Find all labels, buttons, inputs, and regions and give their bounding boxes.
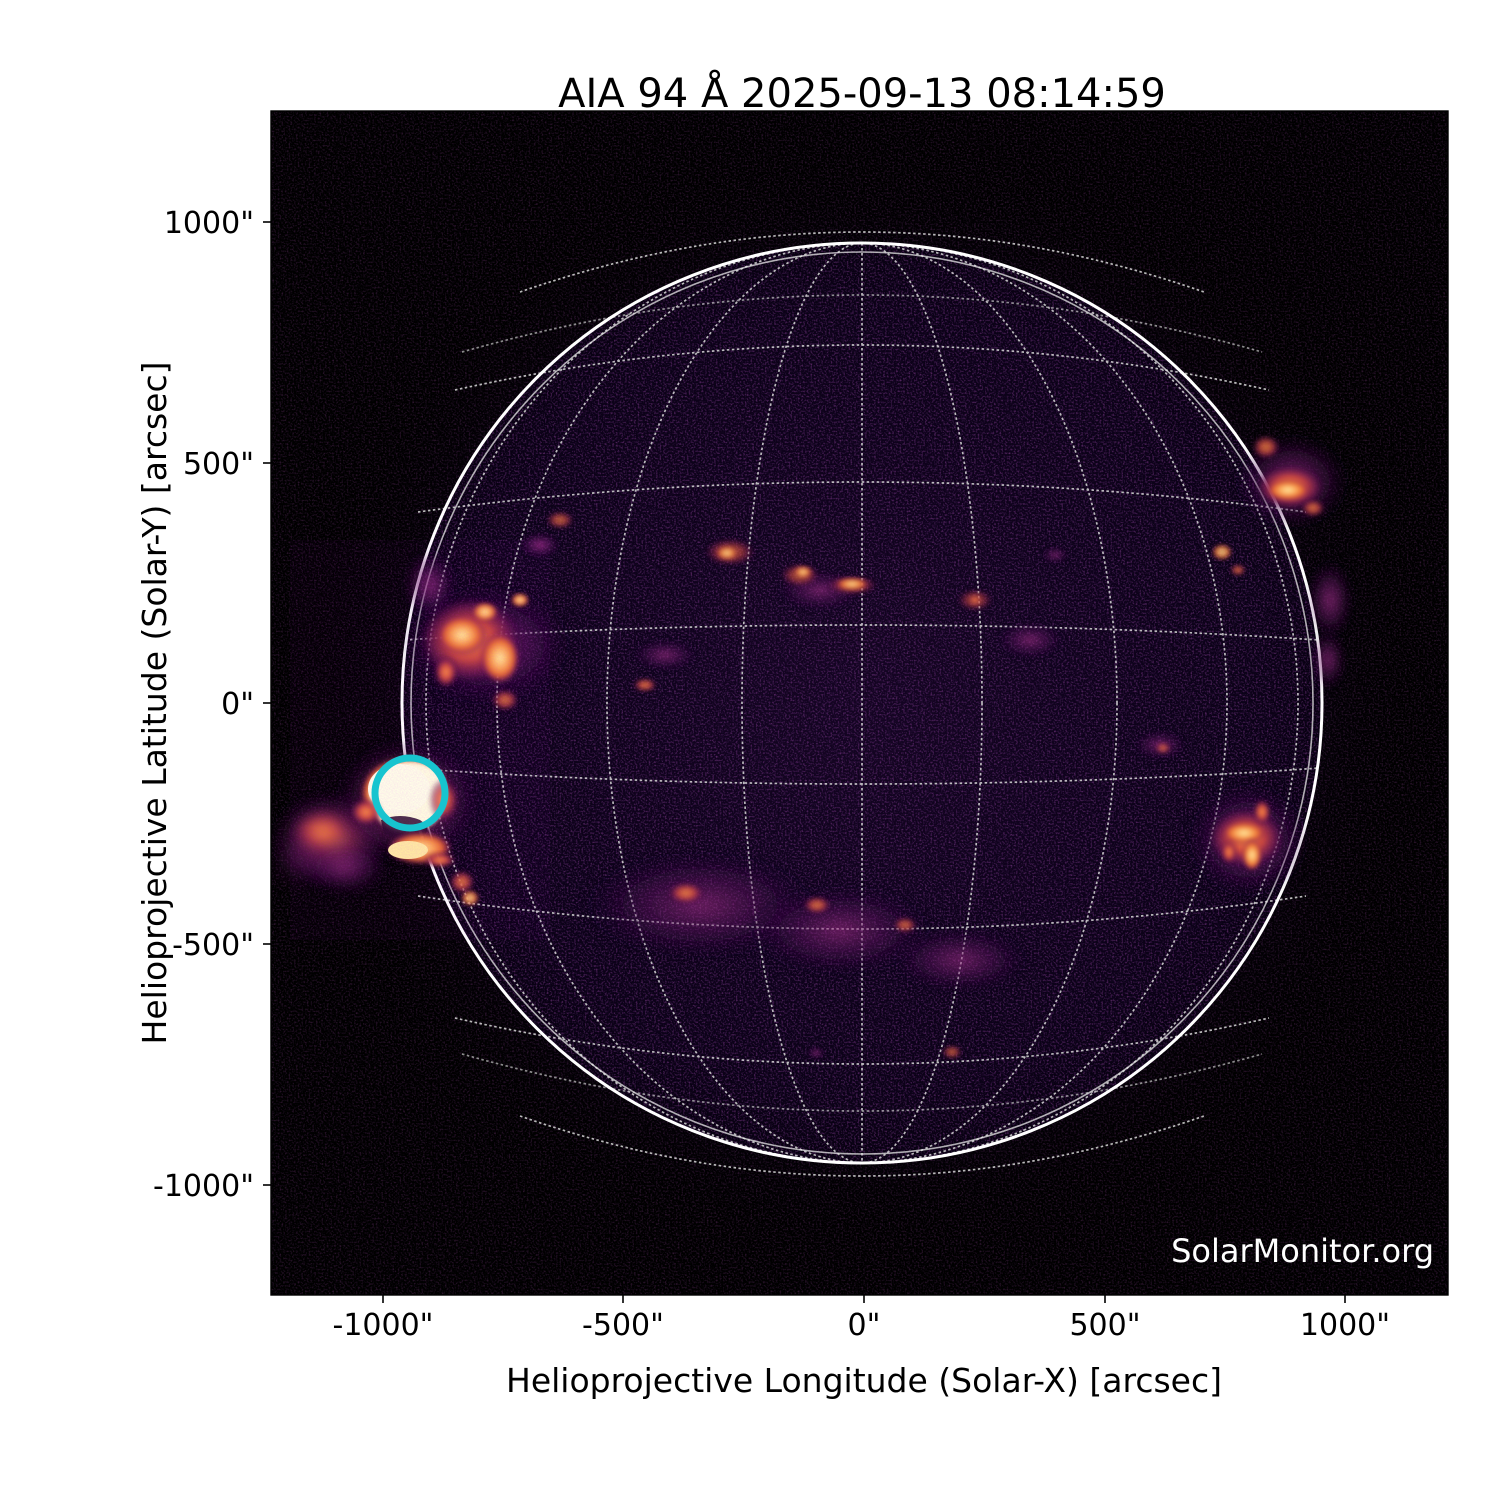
y-tick-label: -500" — [172, 928, 254, 963]
y-tick-label: 1000" — [164, 206, 254, 241]
figure-canvas: AIA 94 Å 2025-09-13 08:14:59 — [0, 0, 1500, 1500]
solar-image: SolarMonitor.org — [269, 111, 1448, 1295]
x-tick-label: 500" — [1069, 1308, 1140, 1343]
y-tick-label: -1000" — [153, 1169, 254, 1204]
y-tick-label: 0" — [221, 687, 254, 722]
watermark: SolarMonitor.org — [1171, 1232, 1434, 1270]
y-tick-label: 500" — [183, 447, 254, 482]
x-tick-label: 0" — [848, 1308, 881, 1343]
image-plot-area: SolarMonitor.org — [269, 111, 1448, 1295]
x-tick-label: -500" — [582, 1308, 664, 1343]
x-tick-label: -1000" — [333, 1308, 434, 1343]
page-title: AIA 94 Å 2025-09-13 08:14:59 — [558, 69, 1166, 117]
active-region-west-limb — [1186, 782, 1310, 898]
x-axis-label: Helioprojective Longitude (Solar-X) [arc… — [506, 1361, 1222, 1400]
solar-image-figure: AIA 94 Å 2025-09-13 08:14:59 — [0, 0, 1500, 1500]
y-axis-label: Helioprojective Latitude (Solar-Y) [arcs… — [135, 362, 174, 1045]
x-tick-label: 1000" — [1300, 1308, 1390, 1343]
